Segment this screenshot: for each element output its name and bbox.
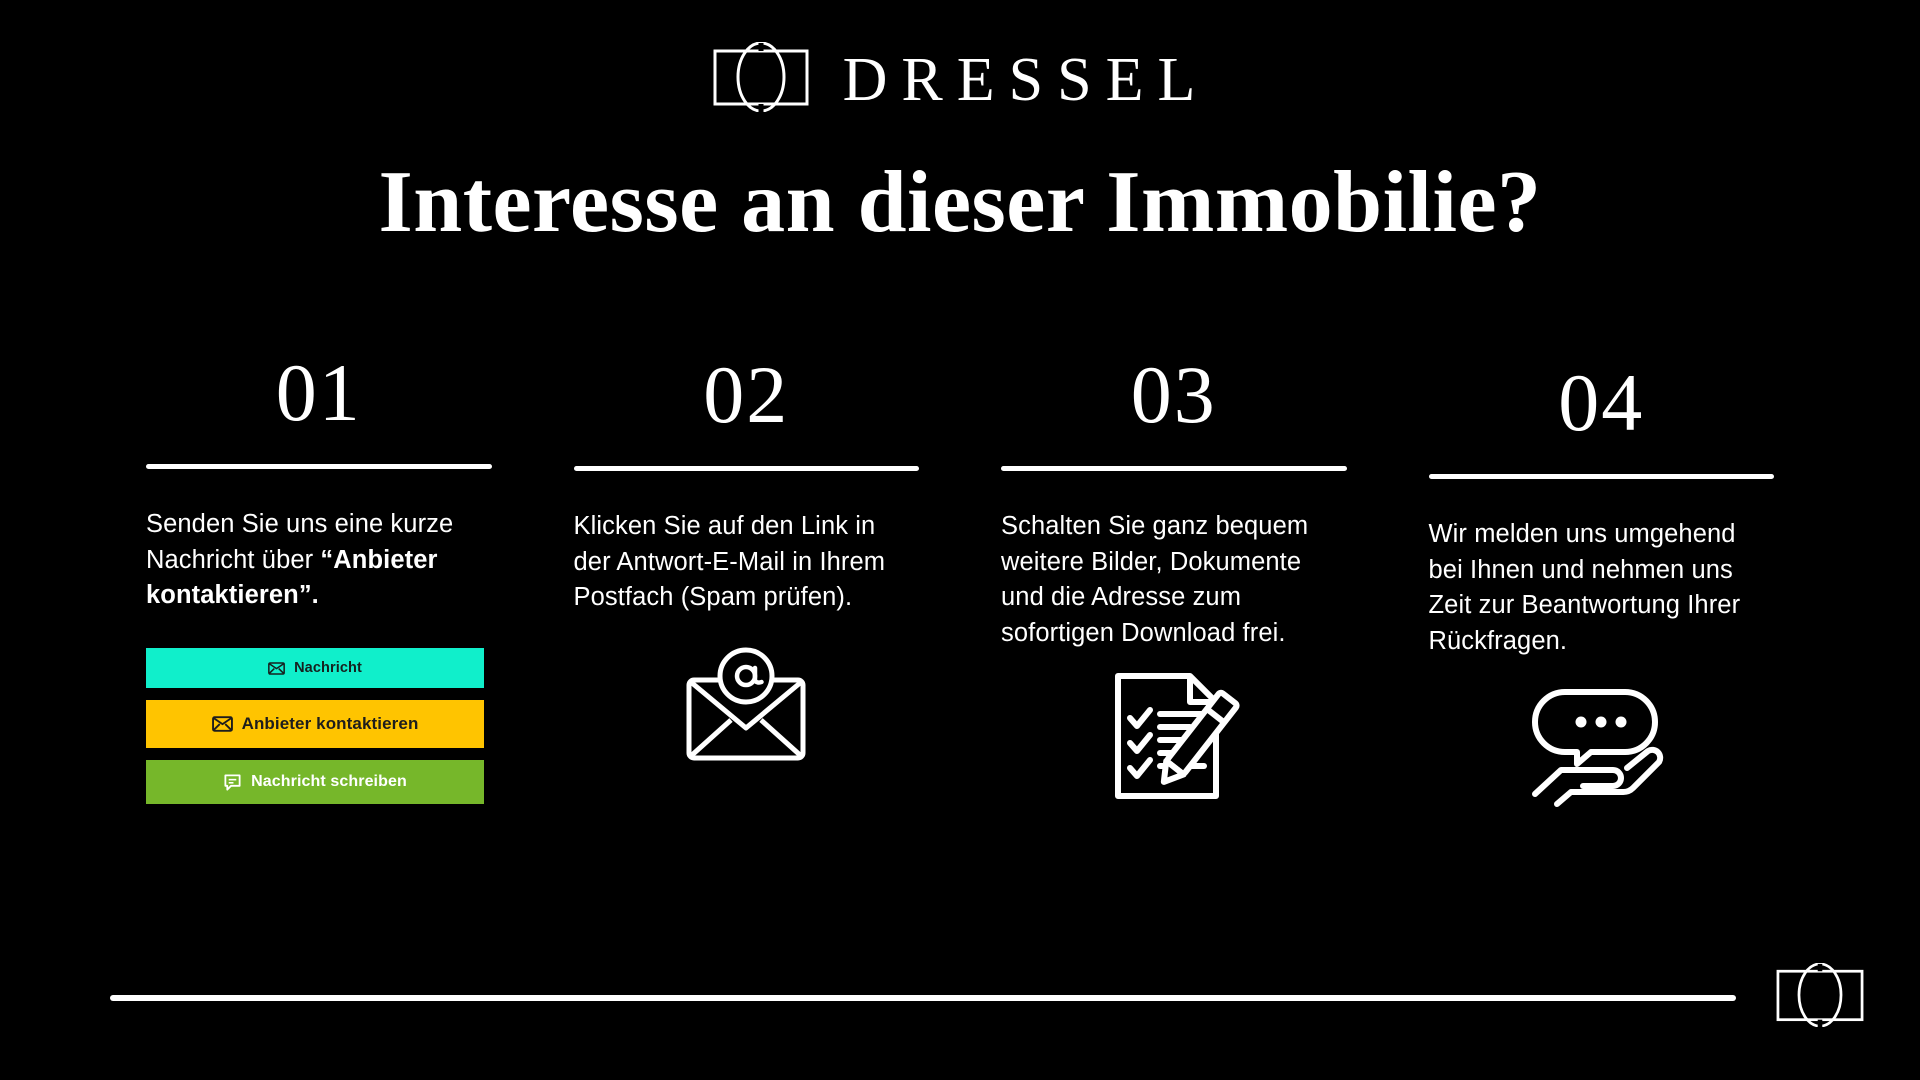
step-divider: [574, 466, 920, 471]
step-number: 02: [574, 354, 920, 436]
envelope-icon: [212, 716, 233, 732]
step-number: 03: [1001, 354, 1347, 436]
hand-holding-speech-bubble-icon: [1527, 684, 1675, 815]
footer-divider: [110, 995, 1736, 1001]
dressel-logo-icon: [711, 42, 811, 117]
step-text: Klicken Sie auf den Link in der Antwort-…: [574, 509, 920, 616]
footer: [110, 963, 1866, 1032]
envelope-icon: [268, 662, 285, 675]
step-text: Senden Sie uns eine kurze Nachricht über…: [146, 507, 492, 614]
step-illustration: [1001, 670, 1347, 807]
step-text: Wir melden uns umgehend bei Ihnen und ne…: [1429, 517, 1775, 660]
step-divider: [1429, 474, 1775, 479]
page-title: Interesse an dieser Immobilie?: [0, 157, 1920, 249]
nachricht-schreiben-button[interactable]: Nachricht schreiben: [146, 760, 484, 804]
step-card-04: 04 Wir melden uns umgehend bei Ihnen und…: [1429, 352, 1775, 815]
nachricht-schreiben-button-label: Nachricht schreiben: [251, 773, 407, 791]
brand-header: DRESSEL: [0, 0, 1920, 117]
step-text: Schalten Sie ganz bequem weitere Bilder,…: [1001, 509, 1347, 652]
step-number: 04: [1429, 362, 1775, 444]
step-card-01: 01 Senden Sie uns eine kurze Nachricht ü…: [146, 352, 492, 815]
steps-grid: 01 Senden Sie uns eine kurze Nachricht ü…: [146, 352, 1774, 815]
nachricht-button-label: Nachricht: [294, 660, 362, 676]
step-illustration: [1429, 684, 1775, 815]
step-card-02: 02 Klicken Sie auf den Link in der Antwo…: [574, 352, 920, 815]
step-illustration: [574, 646, 920, 767]
message-bubble-icon: [223, 773, 242, 792]
anbieter-kontaktieren-button[interactable]: Anbieter kontaktieren: [146, 700, 484, 748]
nachricht-button[interactable]: Nachricht: [146, 648, 484, 688]
step-divider: [146, 464, 492, 469]
brand-wordmark: DRESSEL: [837, 49, 1210, 111]
step-number: 01: [146, 352, 492, 434]
anbieter-kontaktieren-button-label: Anbieter kontaktieren: [242, 714, 419, 734]
dressel-logo-icon: [1774, 963, 1866, 1032]
envelope-at-icon: [683, 646, 809, 767]
checklist-document-pencil-icon: [1104, 670, 1244, 807]
step-card-03: 03 Schalten Sie ganz bequem weitere Bild…: [1001, 352, 1347, 815]
cta-button-stack: Nachricht Anbieter kontaktieren: [146, 648, 484, 804]
step-divider: [1001, 466, 1347, 471]
